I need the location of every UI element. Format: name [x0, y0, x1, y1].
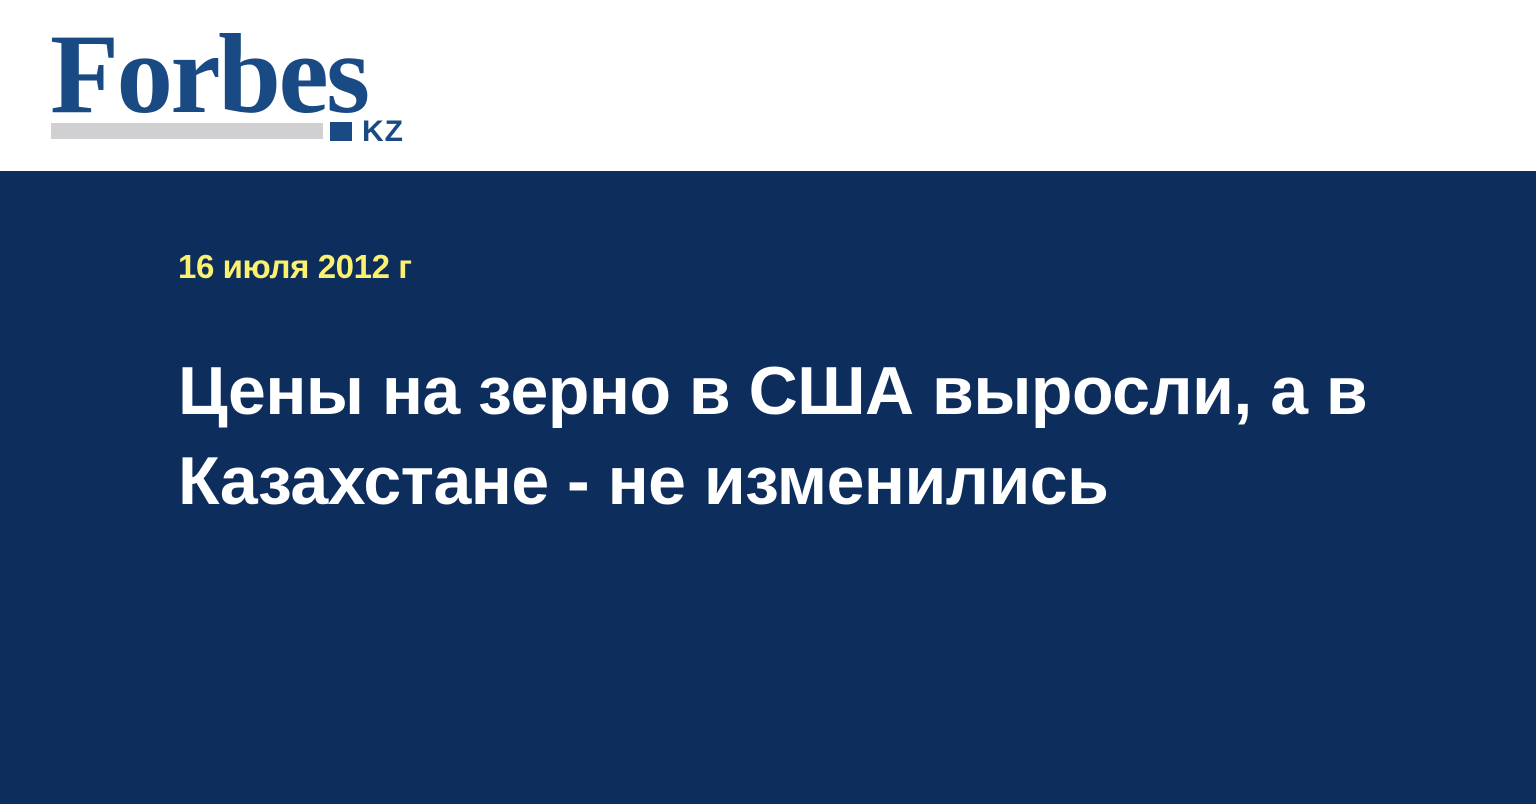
forbes-kz-logo[interactable]: Forbes KZ — [50, 18, 412, 144]
logo-kz-label: KZ — [362, 117, 404, 147]
article-date: 16 июля 2012 г — [178, 250, 412, 283]
forbes-wordmark: Forbes — [50, 18, 368, 131]
logo-underline-rule — [51, 123, 323, 139]
site-header: Forbes KZ — [0, 0, 1536, 171]
article-title: Цены на зерно в США выросли, а в Казахст… — [178, 346, 1378, 526]
square-icon — [330, 122, 352, 141]
article-hero-band: 16 июля 2012 г Цены на зерно в США вырос… — [0, 171, 1536, 804]
article-hero-page: Forbes KZ 16 июля 2012 г Цены на зерно в… — [0, 0, 1536, 804]
